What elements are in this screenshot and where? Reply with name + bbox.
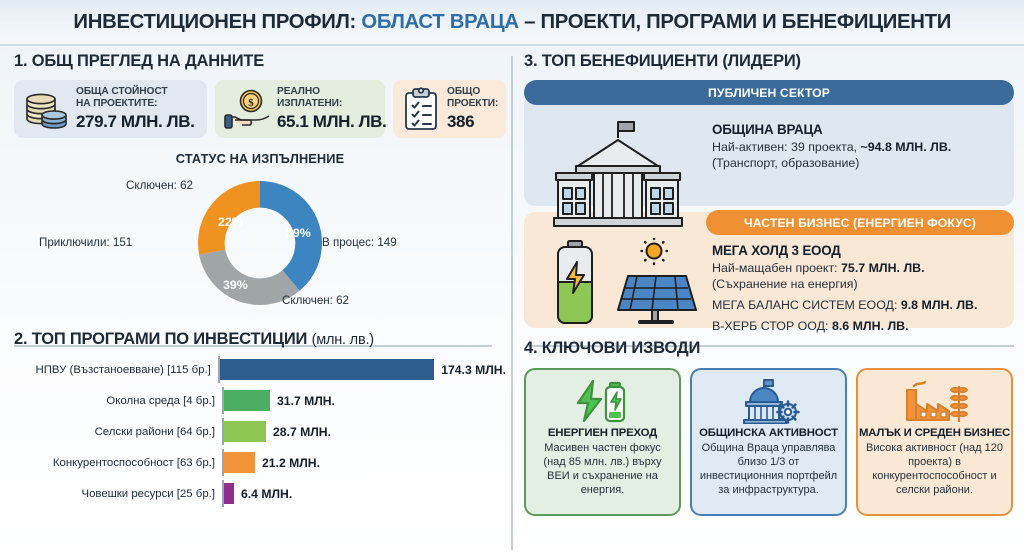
public-sector-line1-amount: ~94.8 МЛН. ЛВ. [860, 140, 951, 154]
section-4-title: 4. КЛЮЧОВИ ИЗВОДИ [524, 339, 1014, 358]
private-business-name: МЕГА ХОЛД 3 ЕООД [712, 243, 977, 258]
stat-card-total-value-label: ОБЩА СТОЙНОСТ НА ПРОЕКТИТЕ: [76, 86, 194, 110]
takeaway-cards: ЕНЕРГИЕН ПРЕХОД Масивен частен фокус (на… [524, 368, 1014, 516]
bar-value: 31.7 МЛН. [277, 394, 335, 408]
bar-row: Човешки ресурси [25 бр.] 6.4 МЛН. [14, 480, 506, 507]
private-business-line3-amount: 9.8 МЛН. ЛВ. [901, 298, 978, 312]
page-title-part1: ИНВЕСТИЦИОНЕН ПРОФИЛ: [73, 10, 361, 33]
private-business-line2: (Съхранение на енергия) [712, 276, 977, 292]
private-business-banner: ЧАСТЕН БИЗНЕС (ЕНЕРГИЕН ФОКУС) [706, 210, 1014, 235]
private-business-line3-plain: МЕГА БАЛАНС СИСТЕМ ЕООД: [712, 298, 901, 312]
bar-row: НПВУ (Възстаноевване) [115 бр.] 174.3 МЛ… [14, 356, 506, 383]
infographic-page: ИНВЕСТИЦИОНЕН ПРОФИЛ: ОБЛАСТ ВРАЦА – ПРО… [0, 0, 1024, 559]
stat-card-total-value: ОБЩА СТОЙНОСТ НА ПРОЕКТИТЕ: 279.7 МЛН. Л… [14, 80, 207, 138]
coins-stack-icon [23, 85, 69, 133]
private-business-line1-amount: 75.7 МЛН. ЛВ. [841, 261, 925, 275]
section-1-title: 1. ОБЩ ПРЕГЛЕД НА ДАННИТЕ [14, 52, 506, 71]
takeaway-body: Висока активност (над 120 проекта) в кон… [864, 442, 1005, 497]
government-building-icon [552, 116, 684, 239]
stat-card-paid-number: 65.1 МЛН. ЛВ. [277, 112, 386, 132]
private-business-line3: МЕГА БАЛАНС СИСТЕМ ЕООД: 9.8 МЛН. ЛВ. [712, 297, 977, 313]
bar-label: Човешки ресурси [25 бр.] [14, 488, 222, 500]
stat-cards: ОБЩА СТОЙНОСТ НА ПРОЕКТИТЕ: 279.7 МЛН. Л… [14, 80, 506, 138]
bar-chart: НПВУ (Възстаноевване) [115 бр.] 174.3 МЛ… [14, 356, 506, 507]
clipboard-check-icon [402, 86, 440, 132]
government-gear-icon [736, 378, 802, 424]
section-2-title: 2. ТОП ПРОГРАМИ ПО ИНВЕСТИЦИИ (млн. лв.) [14, 330, 506, 349]
bar-row: Околна среда [4 бр.] 31.7 МЛН. [14, 387, 506, 414]
bar-label: НПВУ (Възстаноевване) [115 бр.] [14, 364, 218, 376]
public-sector-name: ОБЩИНА ВРАЦА [712, 122, 951, 137]
donut-label-contracted: Сключен: 62 [282, 294, 349, 307]
svg-text:$: $ [248, 97, 254, 109]
public-sector-banner: ПУБЛИЧЕН СЕКТОР [524, 80, 1014, 105]
takeaway-card-municipal: ОБЩИНСКА АКТИВНОСТ Община Враца управляв… [690, 368, 847, 516]
donut-chart-title: СТАТУС НА ИЗПЪЛНЕНИЕ [14, 151, 506, 166]
donut-chart: Сключен: 62 Приключили: 151 В процес: 14… [14, 168, 506, 318]
takeaway-heading: МАЛЪК И СРЕДЕН БИЗНЕС [859, 427, 1010, 439]
donut-chart-svg [189, 172, 331, 314]
donut-label-contracted-top: Сключен: 62 [126, 179, 193, 192]
public-sector-line2: (Транспорт, образование) [712, 155, 951, 171]
page-title-highlight: ОБЛАСТ ВРАЦА [361, 10, 518, 33]
private-business-line1-plain: Най-мащабен проект: [712, 261, 841, 275]
donut-label-completed: Приключили: 151 [39, 236, 132, 249]
bar-fill [224, 421, 266, 442]
takeaway-card-sme: МАЛЪК И СРЕДЕН БИЗНЕС Висока активност (… [856, 368, 1013, 516]
stat-card-total-value-text: ОБЩА СТОЙНОСТ НА ПРОЕКТИТЕ: 279.7 МЛН. Л… [76, 86, 194, 132]
takeaway-heading: ЕНЕРГИЕН ПРЕХОД [548, 427, 657, 439]
private-business-line4: В-ХЕРБ СТОР ООД: 8.6 МЛН. ЛВ. [712, 318, 977, 334]
public-sector-line1: Най-активен: 39 проекта, ~94.8 МЛН. ЛВ. [712, 139, 951, 155]
stat-card-projects: ОБЩО ПРОЕКТИ: 386 [393, 80, 506, 138]
beneficiaries-block: ПУБЛИЧЕН СЕКТОР ЧАСТЕН БИЗНЕС (ЕНЕРГИЕН … [524, 80, 1014, 330]
donut-percent-in-progress: 39% [286, 226, 311, 240]
bar-fill [224, 483, 234, 504]
private-business-line4-amount: 8.6 МЛН. ЛВ. [832, 319, 909, 333]
bar-label: Селски райони [64 бр.] [14, 426, 222, 438]
bar-value: 28.7 МЛН. [273, 425, 331, 439]
private-business-line4-plain: В-ХЕРБ СТОР ООД: [712, 319, 832, 333]
bar-value: 174.3 МЛН. [441, 363, 506, 377]
battery-bolt-icon [572, 378, 634, 424]
donut-percent-contracted: 22% [218, 215, 243, 229]
takeaway-heading: ОБЩИНСКА АКТИВНОСТ [699, 427, 838, 439]
stat-card-paid-label: РЕАЛНО ИЗПЛАТЕНИ: [277, 86, 386, 110]
stat-card-projects-label: ОБЩО ПРОЕКТИ: [447, 86, 498, 110]
right-column: 3. ТОП БЕНЕФИЦИЕНТИ (ЛИДЕРИ) ПУБЛИЧЕН СЕ… [524, 52, 1014, 516]
bar-value: 21.2 МЛН. [262, 456, 320, 470]
private-business-line1: Най-мащабен проект: 75.7 МЛН. ЛВ. [712, 260, 977, 276]
hand-coin-icon: $ [224, 85, 270, 133]
donut-label-in-progress: В процес: 149 [322, 236, 397, 249]
donut-percent-completed: 39% [223, 278, 248, 292]
public-sector-line1-plain: Най-активен: 39 проекта, [712, 140, 860, 154]
bar-fill [224, 452, 255, 473]
bar-row: Селски райони [64 бр.] 28.7 МЛН. [14, 418, 506, 445]
bar-fill [220, 359, 434, 380]
factory-wheat-icon [901, 378, 969, 424]
bar-label: Конкурентоспособност [63 бр.] [14, 457, 222, 469]
stat-card-paid-text: РЕАЛНО ИЗПЛАТЕНИ: 65.1 МЛН. ЛВ. [277, 86, 386, 132]
bar-label: Околна среда [4 бр.] [14, 395, 222, 407]
takeaway-body: Община Враца управлява близо 1/3 от инве… [698, 442, 839, 497]
stat-card-paid: $ РЕАЛНО ИЗПЛАТЕНИ: 65.1 МЛН. ЛВ. [215, 80, 385, 138]
page-header: ИНВЕСТИЦИОНЕН ПРОФИЛ: ОБЛАСТ ВРАЦА – ПРО… [0, 0, 1024, 46]
bar-value: 6.4 МЛН. [241, 487, 292, 501]
section-2-title-units: (млн. лв.) [312, 332, 374, 348]
bar-row: Конкурентоспособност [63 бр.] 21.2 МЛН. [14, 449, 506, 476]
battery-solar-icon [546, 238, 698, 331]
bar-fill [224, 390, 270, 411]
left-column: 1. ОБЩ ПРЕГЛЕД НА ДАННИТЕ [14, 52, 506, 511]
stat-card-total-value-number: 279.7 МЛН. ЛВ. [76, 112, 194, 132]
vertical-divider [511, 56, 513, 550]
section-2-title-main: 2. ТОП ПРОГРАМИ ПО ИНВЕСТИЦИИ [14, 330, 312, 348]
section-3-title: 3. ТОП БЕНЕФИЦИЕНТИ (ЛИДЕРИ) [524, 52, 1014, 71]
public-sector-text: ОБЩИНА ВРАЦА Най-активен: 39 проекта, ~9… [712, 122, 951, 171]
page-title-part2: – ПРОЕКТИ, ПРОГРАМИ И БЕНЕФИЦИЕНТИ [519, 10, 951, 33]
stat-card-projects-text: ОБЩО ПРОЕКТИ: 386 [447, 86, 498, 132]
takeaway-body: Масивен частен фокус (над 85 млн. лв.) в… [532, 442, 673, 497]
private-business-text: МЕГА ХОЛД 3 ЕООД Най-мащабен проект: 75.… [712, 243, 977, 335]
stat-card-projects-number: 386 [447, 112, 498, 132]
page-title: ИНВЕСТИЦИОНЕН ПРОФИЛ: ОБЛАСТ ВРАЦА – ПРО… [73, 10, 951, 34]
takeaway-card-energy: ЕНЕРГИЕН ПРЕХОД Масивен частен фокус (на… [524, 368, 681, 516]
